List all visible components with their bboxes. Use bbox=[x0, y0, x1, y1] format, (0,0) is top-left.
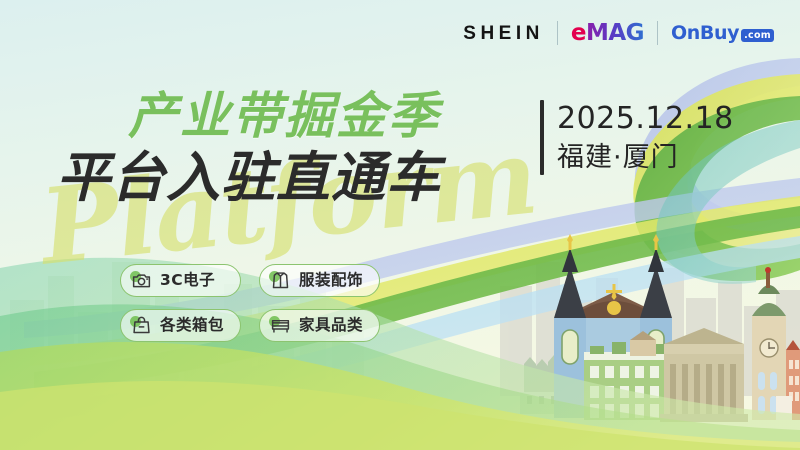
emag-logo-mag: MAG bbox=[586, 22, 644, 45]
onbuy-logo-tld: .com bbox=[741, 29, 774, 42]
category-pill-grid: 3C电子 服装配饰 各类箱包 bbox=[120, 264, 380, 342]
category-pill-luggage[interactable]: 各类箱包 bbox=[120, 309, 241, 342]
emag-logo-e: e bbox=[571, 22, 586, 45]
headline-line-2: 平台入驻直通车 bbox=[56, 148, 441, 207]
category-pill-apparel[interactable]: 服装配饰 bbox=[259, 264, 380, 297]
onbuy-logo: OnBuy.com bbox=[658, 24, 774, 43]
camera-icon bbox=[131, 270, 152, 291]
logo-divider-2 bbox=[657, 21, 658, 45]
promo-banner: SHEIN eMAG OnBuy.com Platform 产业带掘金季 平台入… bbox=[0, 0, 800, 450]
shirt-icon bbox=[270, 270, 291, 291]
category-label: 3C电子 bbox=[160, 273, 215, 289]
category-label: 服装配饰 bbox=[299, 273, 363, 289]
shein-logo: SHEIN bbox=[463, 24, 557, 43]
event-location: 福建·厦门 bbox=[557, 140, 734, 175]
headline-line-1: 产业带掘金季 bbox=[128, 88, 441, 144]
furniture-icon bbox=[270, 315, 291, 336]
logo-divider-1 bbox=[557, 21, 558, 45]
category-pill-3c[interactable]: 3C电子 bbox=[120, 264, 241, 297]
onbuy-logo-word: OnBuy bbox=[671, 24, 739, 43]
category-label: 各类箱包 bbox=[160, 318, 224, 334]
category-pill-furniture[interactable]: 家具品类 bbox=[259, 309, 380, 342]
category-label: 家具品类 bbox=[299, 318, 363, 334]
headline-group: Platform 产业带掘金季 平台入驻直通车 bbox=[56, 88, 441, 207]
date-accent-bar bbox=[540, 100, 544, 175]
date-text-group: 2025.12.18 福建·厦门 bbox=[557, 100, 734, 175]
event-date: 2025.12.18 bbox=[557, 100, 734, 138]
handbag-icon bbox=[131, 315, 152, 336]
emag-logo: eMAG bbox=[558, 22, 657, 45]
event-date-block: 2025.12.18 福建·厦门 bbox=[540, 100, 734, 175]
partner-logo-bar: SHEIN eMAG OnBuy.com bbox=[463, 18, 774, 48]
